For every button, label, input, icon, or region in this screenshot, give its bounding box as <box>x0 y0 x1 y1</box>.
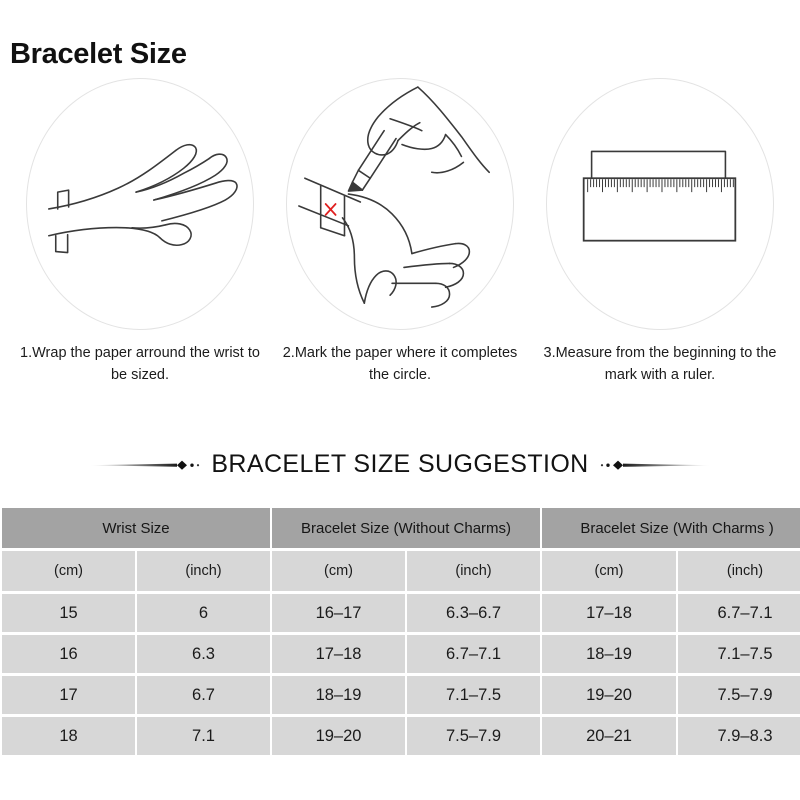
table-cell: 16–17 <box>272 594 405 632</box>
step-3-illustration-circle <box>546 78 774 330</box>
hand-with-paper-strip-icon <box>27 78 253 330</box>
table-body: 15 6 16–17 6.3–6.7 17–18 6.7–7.1 16 6.3 … <box>2 594 800 755</box>
table-cell: 7.1 <box>137 717 270 755</box>
unit-header-cell: (inch) <box>137 551 270 591</box>
table-row: 17 6.7 18–19 7.1–7.5 19–20 7.5–7.9 <box>2 676 800 714</box>
table-cell: 17–18 <box>542 594 676 632</box>
page-title: Bracelet Size <box>10 40 187 69</box>
step-2-illustration-circle <box>286 78 514 330</box>
table-cell: 15 <box>2 594 135 632</box>
unit-header-cell: (cm) <box>2 551 135 591</box>
table-cell: 6.3–6.7 <box>407 594 540 632</box>
bracelet-size-table: Wrist Size Bracelet Size (Without Charms… <box>0 505 800 758</box>
table-cell: 6.3 <box>137 635 270 673</box>
table-cell: 6.7 <box>137 676 270 714</box>
diamond-line-ornament-left-icon <box>89 458 201 472</box>
table-cell: 16 <box>2 635 135 673</box>
table-cell: 7.5–7.9 <box>678 676 800 714</box>
table-cell: 18 <box>2 717 135 755</box>
diamond-line-ornament-right-icon <box>599 458 711 472</box>
table-cell: 6 <box>137 594 270 632</box>
table-cell: 7.5–7.9 <box>407 717 540 755</box>
table-group-header-row: Wrist Size Bracelet Size (Without Charms… <box>2 508 800 548</box>
table-cell: 17 <box>2 676 135 714</box>
table-cell: 7.1–7.5 <box>678 635 800 673</box>
section-heading: BRACELET SIZE SUGGESTION <box>0 450 800 479</box>
group-header-wrist-size: Wrist Size <box>2 508 270 548</box>
paper-strip-outline <box>592 151 726 178</box>
step-1-illustration-circle <box>26 78 254 330</box>
table-cell: 19–20 <box>542 676 676 714</box>
table-cell: 20–21 <box>542 717 676 755</box>
table-row: 16 6.3 17–18 6.7–7.1 18–19 7.1–7.5 <box>2 635 800 673</box>
steps-row: 1.Wrap the paper arround the wrist to be… <box>0 78 800 387</box>
unit-header-cell: (inch) <box>678 551 800 591</box>
group-header-bracelet-with-charms: Bracelet Size (With Charms ) <box>542 508 800 548</box>
table-cell: 7.1–7.5 <box>407 676 540 714</box>
unit-header-cell: (cm) <box>542 551 676 591</box>
step-3-caption: 3.Measure from the beginning to the mark… <box>537 343 783 387</box>
table-cell: 19–20 <box>272 717 405 755</box>
step-1: 1.Wrap the paper arround the wrist to be… <box>14 78 266 387</box>
pen-marking-paper-on-wrist-icon <box>287 78 513 330</box>
table-cell: 18–19 <box>272 676 405 714</box>
section-title: BRACELET SIZE SUGGESTION <box>211 450 588 479</box>
unit-header-cell: (inch) <box>407 551 540 591</box>
table-cell: 6.7–7.1 <box>407 635 540 673</box>
ruler-measuring-paper-icon <box>547 78 773 330</box>
step-3: 3.Measure from the beginning to the mark… <box>534 78 786 387</box>
table-cell: 7.9–8.3 <box>678 717 800 755</box>
group-header-bracelet-without-charms: Bracelet Size (Without Charms) <box>272 508 540 548</box>
table-unit-header-row: (cm) (inch) (cm) (inch) (cm) (inch) <box>2 551 800 591</box>
table-cell: 17–18 <box>272 635 405 673</box>
table-row: 18 7.1 19–20 7.5–7.9 20–21 7.9–8.3 <box>2 717 800 755</box>
step-1-caption: 1.Wrap the paper arround the wrist to be… <box>17 343 263 387</box>
step-2-caption: 2.Mark the paper where it completes the … <box>277 343 523 387</box>
red-mark-icon <box>326 204 336 215</box>
table-cell: 6.7–7.1 <box>678 594 800 632</box>
table-cell: 18–19 <box>542 635 676 673</box>
unit-header-cell: (cm) <box>272 551 405 591</box>
table-header: Wrist Size Bracelet Size (Without Charms… <box>2 508 800 591</box>
table-row: 15 6 16–17 6.3–6.7 17–18 6.7–7.1 <box>2 594 800 632</box>
step-2: 2.Mark the paper where it completes the … <box>274 78 526 387</box>
ruler-body <box>584 178 736 240</box>
